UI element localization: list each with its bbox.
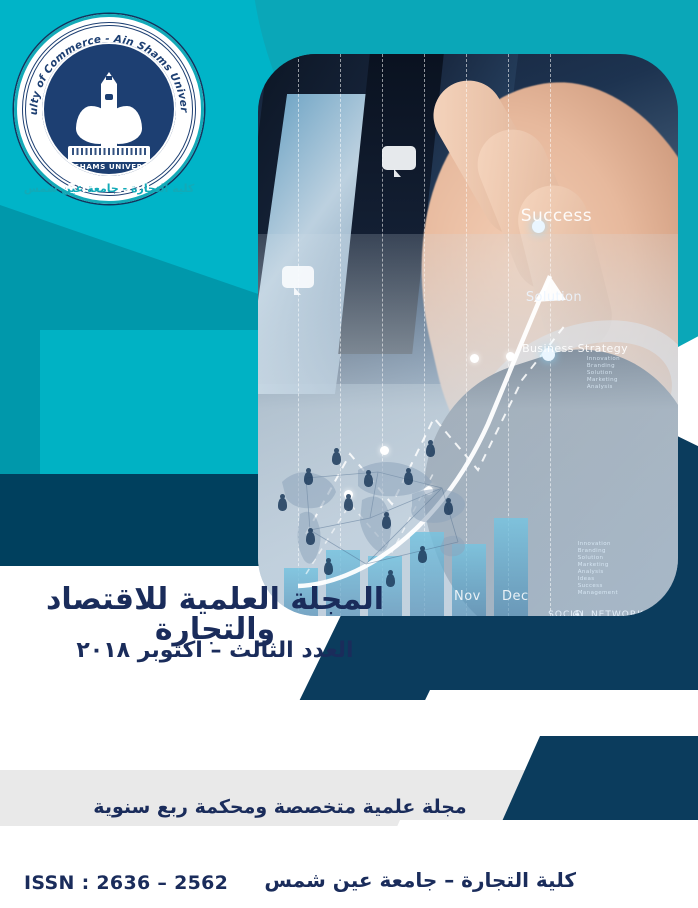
map-pin [418,550,427,563]
obelisk-glyph [104,66,114,70]
map-pin [404,472,413,485]
logo-inner-disc: AIN SHAMS UNIVERSITY Since 1950 [42,42,176,176]
falcon-left-icon [76,106,110,144]
hieroglyph-band [72,148,146,155]
obelisk-glyph [105,94,113,100]
faculty-line: كلية التجارة – جامعة عين شمس [264,868,576,892]
white-sliver-diagonal [386,690,698,780]
map-pin [382,516,391,529]
falcon-right-icon [108,106,142,144]
photo-label-strategy-keywords: Innovation Branding Solution Marketing A… [587,356,620,391]
data-point [506,352,515,361]
issue-line: العدد الثالث – اكتوبر ٢٠١٨ [0,640,430,662]
logo-university-name: AIN SHAMS UNIVERSITY [42,162,176,171]
map-pin [426,444,435,457]
map-pin [364,474,373,487]
photo-label-solution: Solution [526,290,582,305]
map-pin [332,452,341,465]
tooltip-chip [282,266,314,288]
map-pin [304,472,313,485]
tooltip-chip [382,146,416,170]
logo-arc-bottom-text: كلية التجارة - جامعة عين شمس [14,182,204,195]
photo-label-social-network: SOCIAL NETWORK [548,610,644,616]
university-logo: Faculty of Commerce - Ain Shams Universi… [14,14,204,204]
map-pin [324,562,333,575]
subtitle-quarterly: مجلة علمية متخصصة ومحكمة ربع سنوية [0,798,560,817]
map-pin [306,532,315,545]
data-point [470,354,479,363]
world-map-graphic [266,444,496,594]
map-pin [278,498,287,511]
obelisk-glyph [106,76,112,80]
photo-label-success: Success [521,206,592,226]
photo-label-network-keywords: Innovation Branding Solution Marketing A… [578,541,618,597]
map-pin [444,502,453,515]
journal-cover: Nov Dec [0,0,698,908]
white-bottom-band [0,826,698,908]
journal-title: المجلة العلمية للاقتصاد والتجارة [0,585,430,645]
issn-text: ISSN : 2636 – 2562 [24,872,228,894]
photo-label-business-strategy: Business Strategy [522,342,628,355]
white-bottom-diagonal [351,820,698,908]
map-pin [344,498,353,511]
business-strategy-photo: Nov Dec [258,54,678,616]
white-sliver-band [0,700,698,774]
navy-corner-slab-extension [560,600,698,908]
